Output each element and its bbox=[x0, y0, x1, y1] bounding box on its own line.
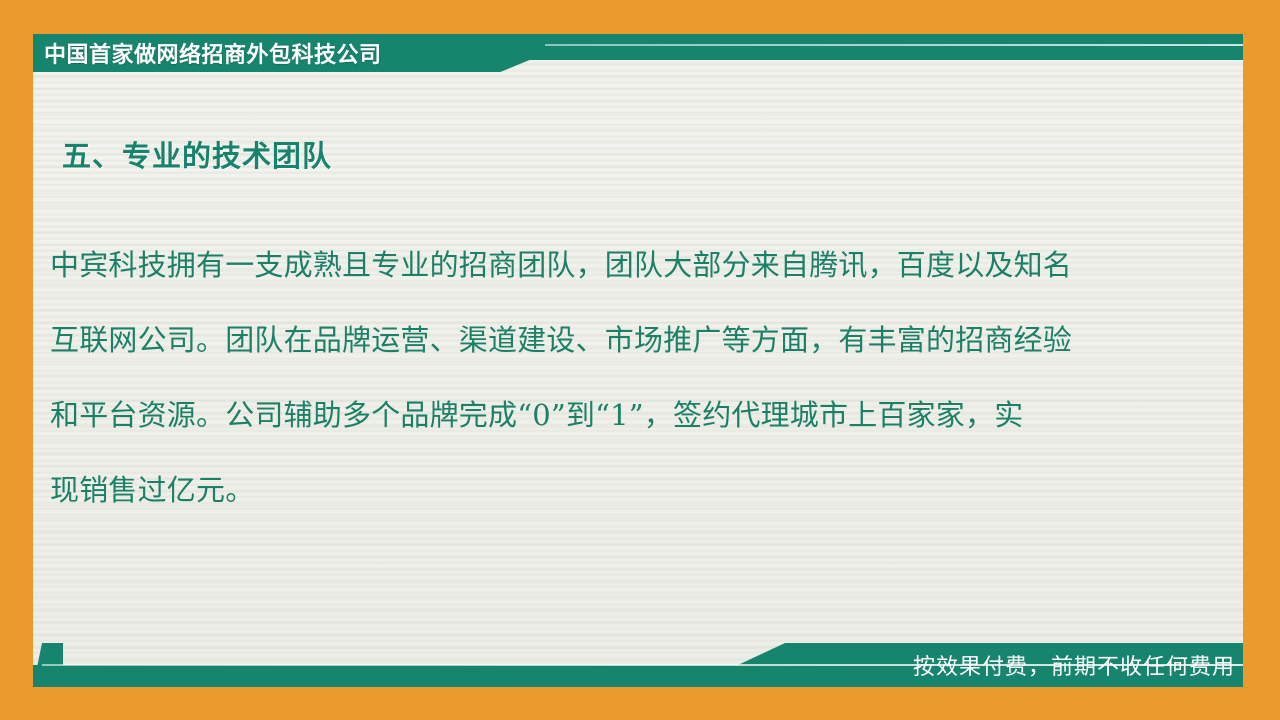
header-title: 中国首家做网络招商外包科技公司 bbox=[44, 34, 382, 72]
body-paragraph-line-4: 现销售过亿元。 bbox=[50, 453, 1190, 528]
body-paragraph-line-2: 互联网公司。团队在品牌运营、渠道建设、市场推广等方面，有丰富的招商经验 bbox=[50, 303, 1190, 378]
slide-canvas: 中国首家做网络招商外包科技公司 五、专业的技术团队 中宾科技拥有一支成熟且专业的… bbox=[0, 0, 1280, 720]
body-paragraph-line-3: 和平台资源。公司辅助多个品牌完成“0”到“1”，签约代理城市上百家家，实 bbox=[50, 378, 1190, 453]
header-banner-right bbox=[470, 34, 1243, 60]
body-paragraph-line-1: 中宾科技拥有一支成熟且专业的招商团队，团队大部分来自腾讯，百度以及知名 bbox=[50, 228, 1190, 303]
header-hairline-divider bbox=[545, 44, 1243, 46]
section-heading: 五、专业的技术团队 bbox=[62, 133, 332, 175]
body-paragraph: 中宾科技拥有一支成熟且专业的招商团队，团队大部分来自腾讯，百度以及知名 互联网公… bbox=[50, 228, 1190, 528]
footer-tagline: 按效果付费，前期不收任何费用 bbox=[913, 643, 1235, 687]
